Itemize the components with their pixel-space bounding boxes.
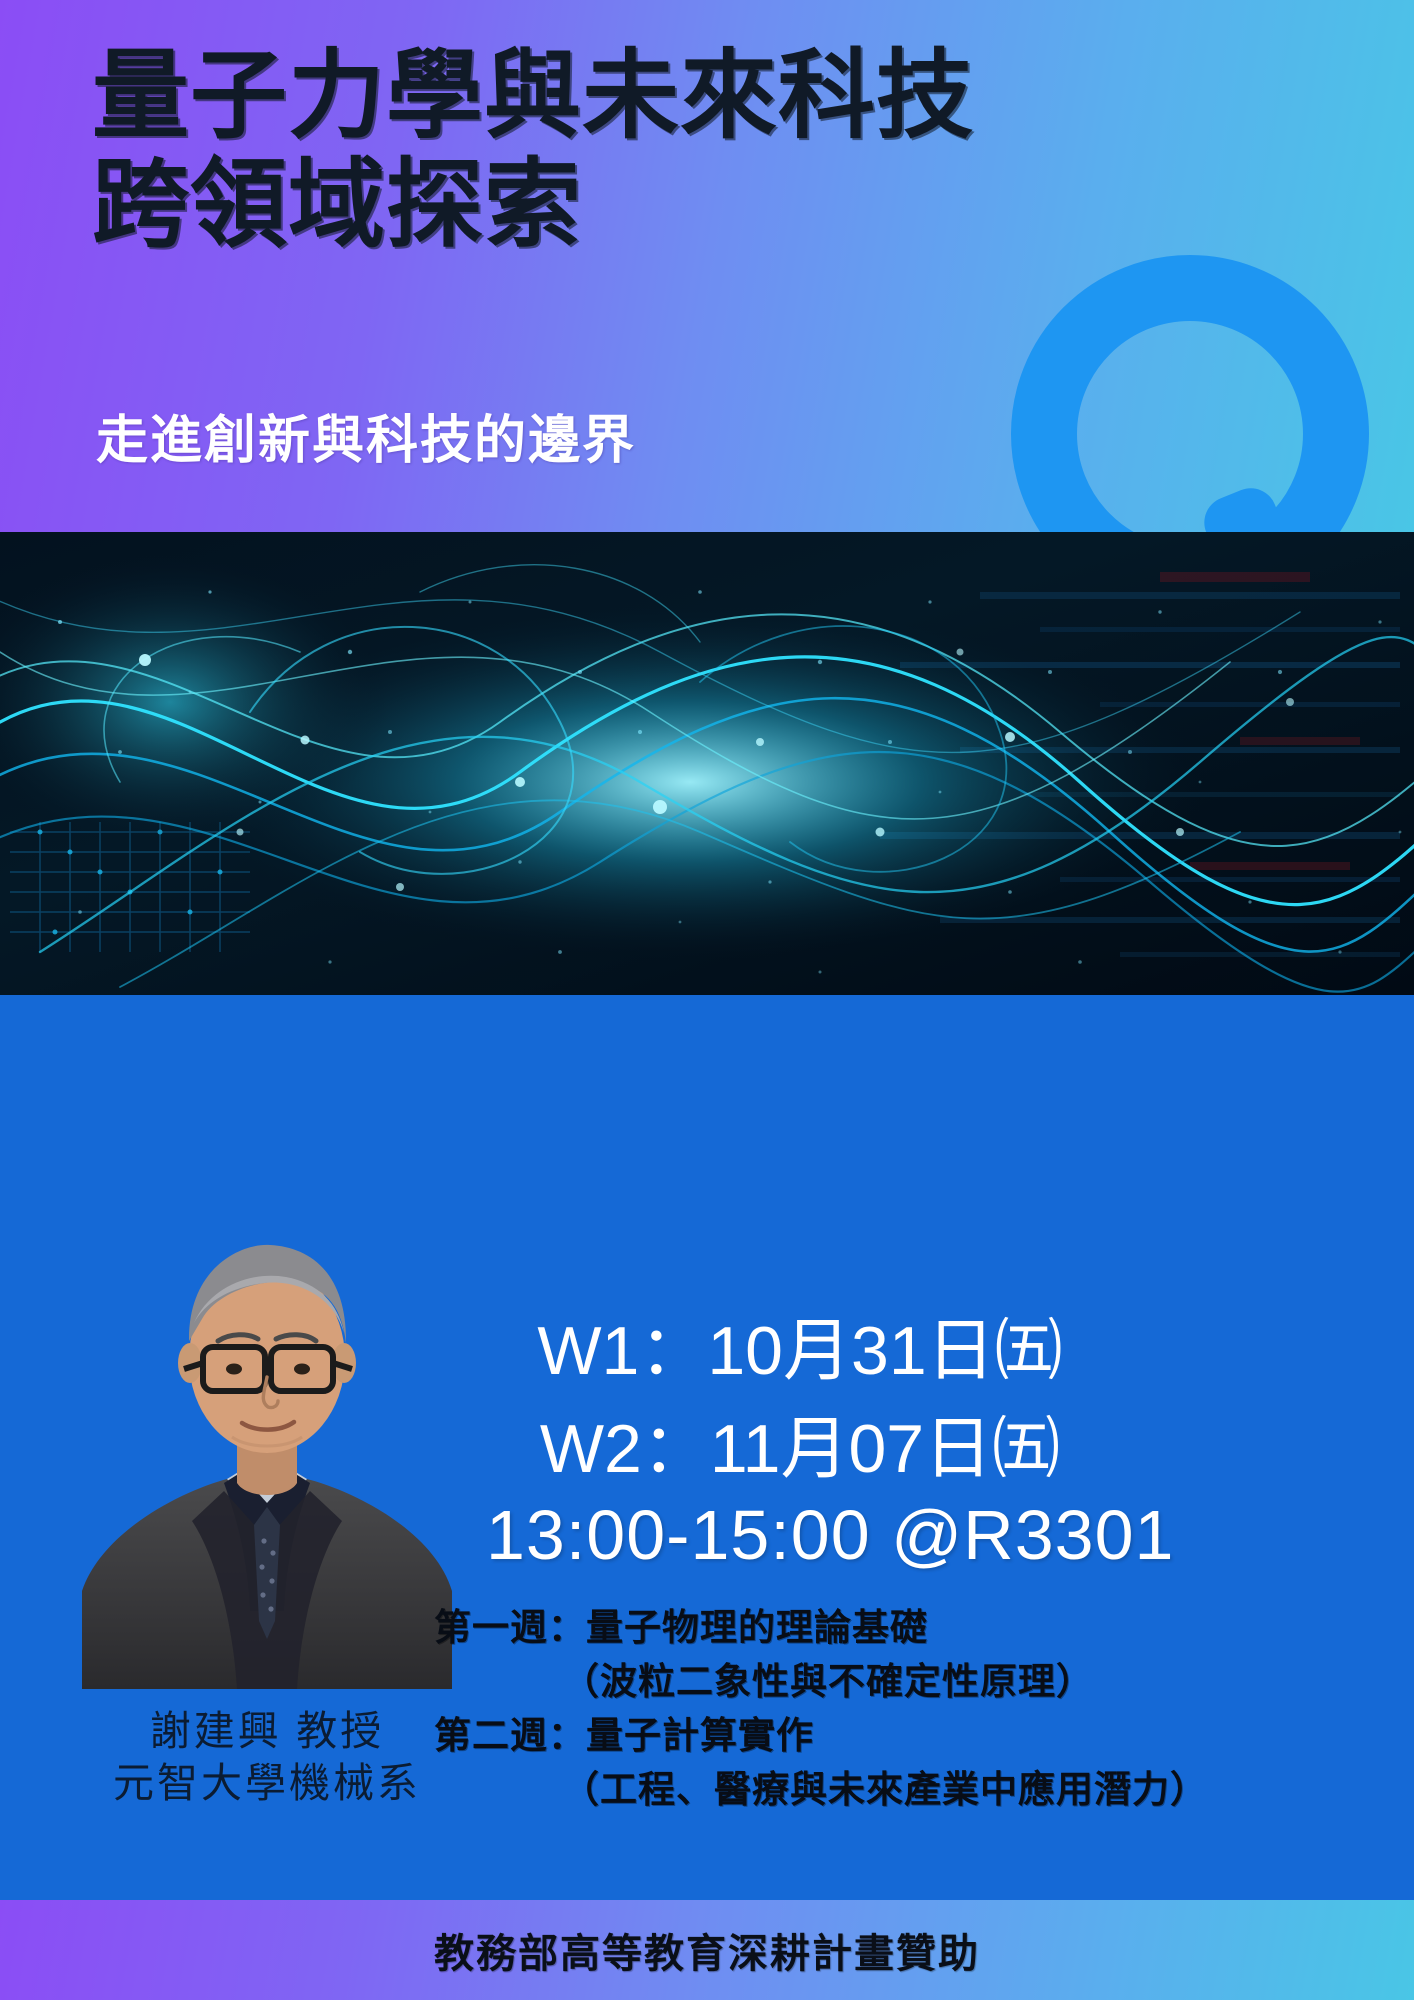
title-line-2: 跨領域探索 (92, 151, 974, 260)
speaker-affiliation: 元智大學機械系 (42, 1757, 492, 1809)
agenda-week1-detail: （波粒二象性與不確定性原理） (434, 1655, 1174, 1709)
schedule-week1: W1：10月31日㈤ (500, 1295, 1100, 1394)
speaker-photo (42, 1191, 492, 1689)
schedule-time-location: 13:00-15:00 @R3301 (486, 1495, 1126, 1575)
speaker-portrait-illustration (42, 1191, 492, 1689)
poster-header: 量子力學與未來科技 跨領域探索 走進創新與科技的邊界 (0, 0, 1414, 532)
quantum-network-graphic (0, 532, 1414, 995)
agenda-week2-title: 第二週：量子計算實作 (434, 1709, 1174, 1763)
sponsor-text: 教務部高等教育深耕計畫贊助 (434, 1921, 980, 1979)
agenda-list: 第一週：量子物理的理論基礎 （波粒二象性與不確定性原理） 第二週：量子計算實作 … (434, 1601, 1174, 1817)
event-info-column: W1：10月31日㈤ W2：11月07日㈤ 13:00-15:00 @R3301… (500, 995, 1414, 1900)
quantum-q-logo-icon (994, 238, 1394, 532)
poster-root: 量子力學與未來科技 跨領域探索 走進創新與科技的邊界 (0, 0, 1414, 2000)
hero-quantum-image (0, 532, 1414, 995)
poster-main-panel: 謝建興 教授 元智大學機械系 W1：10月31日㈤ W2：11月07日㈤ 13:… (0, 995, 1414, 1900)
title-line-1: 量子力學與未來科技 (92, 42, 974, 151)
poster-title: 量子力學與未來科技 跨領域探索 (92, 42, 974, 259)
schedule-week2: W2：11月07日㈤ (500, 1393, 1100, 1492)
speaker-caption: 謝建興 教授 元智大學機械系 (42, 1705, 492, 1810)
agenda-week2-detail: （工程、醫療與未來產業中應用潛力） (434, 1763, 1174, 1817)
poster-subtitle: 走進創新與科技的邊界 (96, 398, 636, 473)
speaker-name: 謝建興 教授 (42, 1705, 492, 1757)
agenda-week1-title: 第一週：量子物理的理論基礎 (434, 1601, 1174, 1655)
poster-footer: 教務部高等教育深耕計畫贊助 (0, 1900, 1414, 2000)
